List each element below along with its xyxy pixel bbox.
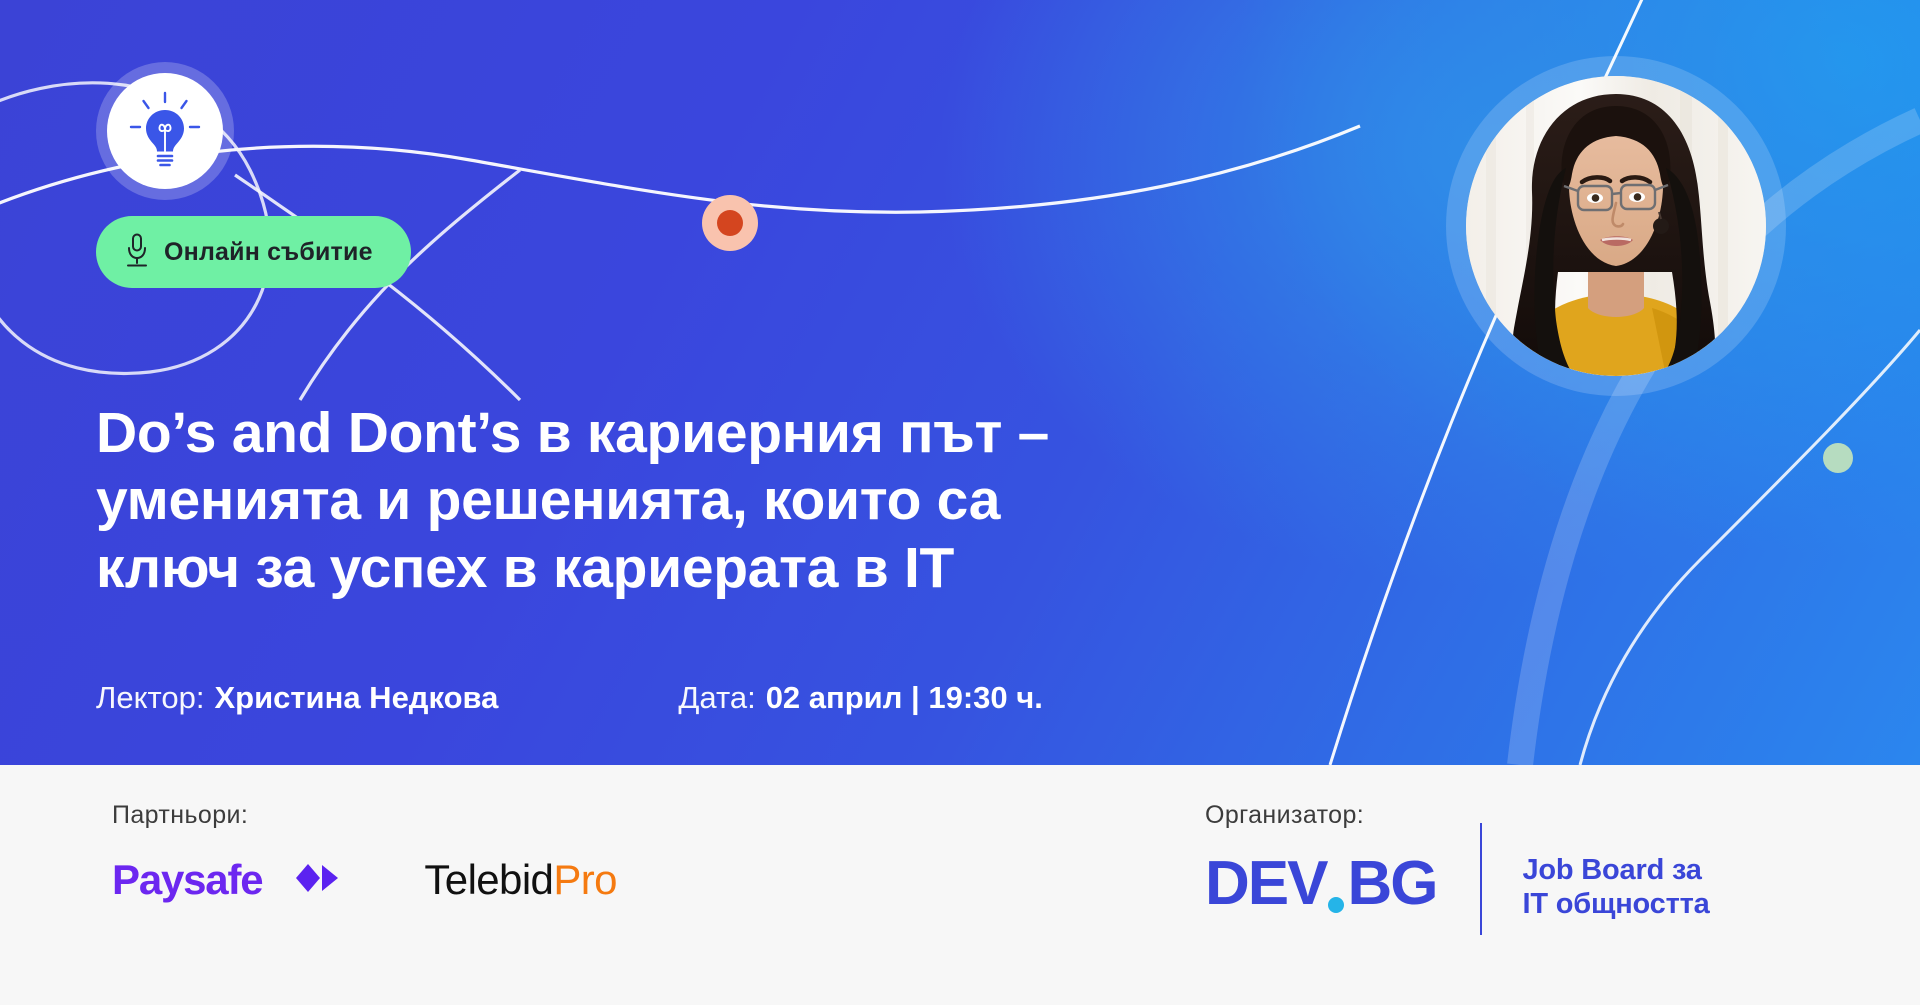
event-meta-row: Лектор: Христина Недкова Дата: 02 април … xyxy=(96,680,1296,716)
event-title: Do’s and Dont’s в кариерния път – умения… xyxy=(96,400,1216,602)
partners-section: Партньори: Paysafe Telebid Pro xyxy=(112,801,617,904)
lightbulb-icon xyxy=(128,90,202,173)
speaker-label: Лектор: xyxy=(96,680,204,716)
online-event-badge[interactable]: Онлайн събитие xyxy=(96,216,411,288)
online-event-label: Онлайн събитие xyxy=(164,238,373,267)
devbg-dot-icon xyxy=(1328,897,1344,913)
devbg-wordmark-bg: BG xyxy=(1347,848,1436,919)
event-title-line-2: уменията и решенията, които са xyxy=(96,467,1216,534)
organizer-label: Организатор: xyxy=(1205,801,1436,830)
microphone-icon xyxy=(126,233,148,272)
event-banner: Онлайн събитие Do’s and Dont’s в кариерн… xyxy=(0,0,1920,1005)
partners-label: Партньори: xyxy=(112,801,617,830)
speaker-block: Лектор: Христина Недкова xyxy=(96,680,498,716)
devbg-wordmark-dev: DEV xyxy=(1205,848,1326,919)
date-value: 02 април | 19:30 ч. xyxy=(766,680,1043,716)
organizer-tagline: Job Board за IT общността xyxy=(1522,853,1709,921)
organizer-section: Организатор: DEV BG Job Board за IT общн… xyxy=(1205,801,1710,935)
partner-logo-paysafe[interactable]: Paysafe xyxy=(112,856,340,904)
telebid-wordmark: Telebid xyxy=(424,856,553,904)
lightbulb-emblem-inner xyxy=(107,73,223,189)
mint-node-decoration xyxy=(1823,443,1853,473)
footer-bar: Партньори: Paysafe Telebid Pro xyxy=(0,765,1920,1005)
pro-wordmark: Pro xyxy=(553,856,617,904)
event-title-line-3: ключ за успех в кариерата в IT xyxy=(96,535,1216,602)
paysafe-diamond-icon xyxy=(278,860,340,901)
speaker-name: Христина Недкова xyxy=(214,680,498,716)
avatar xyxy=(1466,76,1766,376)
organizer-tagline-line-2: IT общността xyxy=(1522,888,1709,920)
date-label: Дата: xyxy=(678,680,755,716)
partner-logo-telebidpro[interactable]: Telebid Pro xyxy=(424,856,616,904)
partner-logo-row: Paysafe Telebid Pro xyxy=(112,856,617,904)
organizer-tagline-line-1: Job Board за xyxy=(1522,854,1701,886)
paysafe-wordmark: Paysafe xyxy=(112,856,262,904)
date-block: Дата: 02 април | 19:30 ч. xyxy=(678,680,1042,716)
hero-section: Онлайн събитие Do’s and Dont’s в кариерн… xyxy=(0,0,1920,765)
event-title-line-1: Do’s and Dont’s в кариерния път – xyxy=(96,400,1216,467)
speaker-photo-ring xyxy=(1446,56,1786,396)
devbg-logo[interactable]: DEV BG xyxy=(1205,848,1436,919)
organizer-column: Организатор: DEV BG xyxy=(1205,801,1436,919)
organizer-divider xyxy=(1480,823,1482,935)
speaker-portrait-illustration xyxy=(1466,76,1766,376)
lightbulb-emblem xyxy=(96,62,234,200)
orange-node-decoration xyxy=(702,195,758,251)
